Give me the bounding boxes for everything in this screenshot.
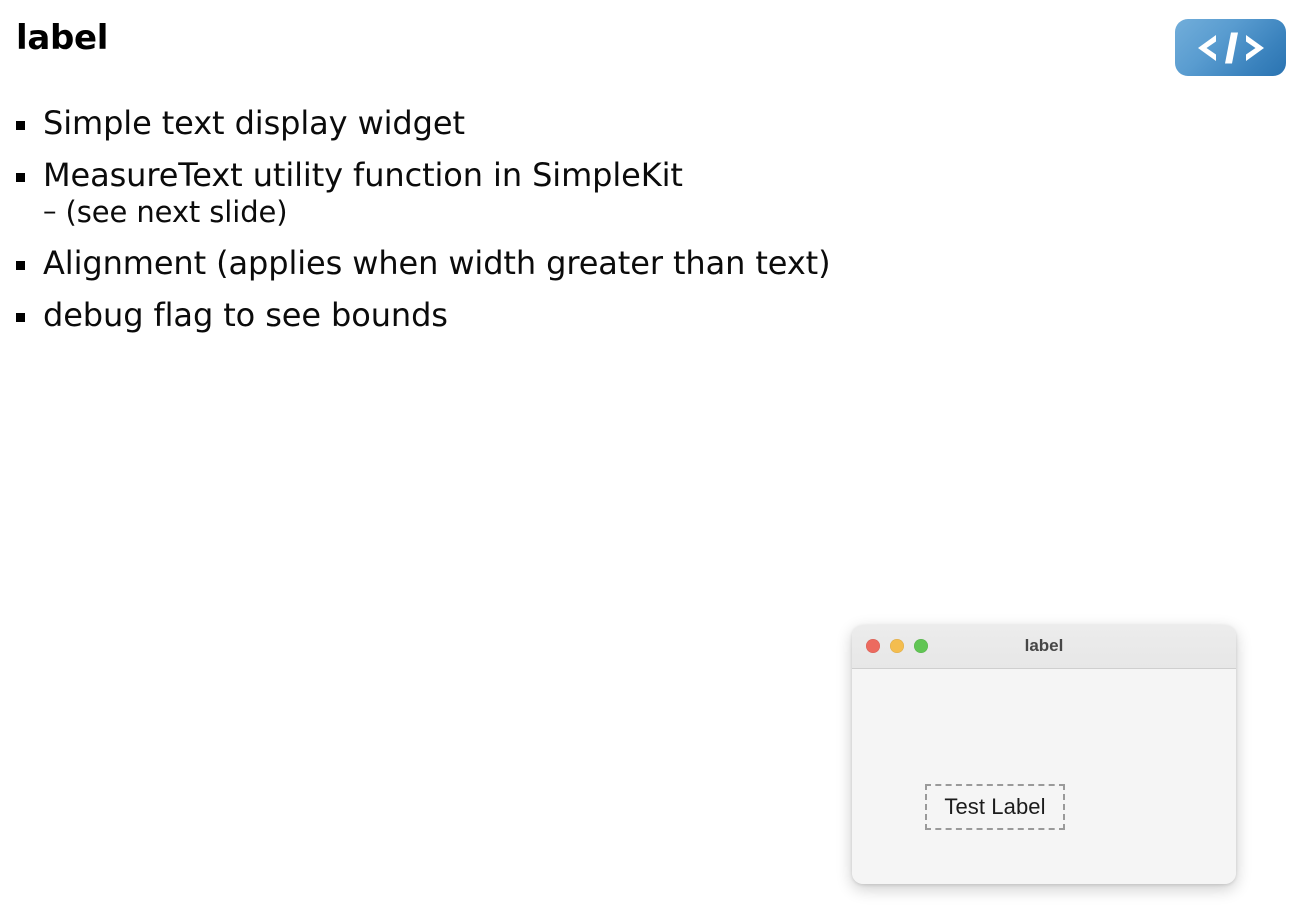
list-item-label: Simple text display widget — [43, 103, 465, 144]
list-item-label: Alignment (applies when width greater th… — [43, 243, 830, 284]
test-label-text: Test Label — [944, 794, 1045, 820]
square-bullet-icon — [16, 295, 43, 322]
list-item: Alignment (applies when width greater th… — [16, 243, 1116, 284]
square-bullet-icon — [16, 243, 43, 270]
sub-list-item-label: (see next slide) — [66, 194, 288, 232]
demo-window: label Test Label — [852, 625, 1236, 884]
bullet-list: Simple text display widget MeasureText u… — [16, 103, 1116, 347]
square-bullet-icon — [16, 103, 43, 130]
sub-list-item: – (see next slide) — [43, 194, 1116, 232]
list-item-group: MeasureText utility function in SimpleKi… — [16, 155, 1116, 232]
page-title: label — [16, 21, 108, 55]
square-bullet-icon — [16, 155, 43, 182]
list-item-label: MeasureText utility function in SimpleKi… — [43, 155, 683, 196]
label-bounds-box: Test Label — [925, 784, 1065, 830]
list-item: MeasureText utility function in SimpleKi… — [16, 155, 1116, 196]
list-item: Simple text display widget — [16, 103, 1116, 144]
list-item-label: debug flag to see bounds — [43, 295, 448, 336]
window-content: Test Label — [852, 669, 1236, 884]
window-titlebar[interactable]: label — [852, 625, 1236, 669]
list-item: debug flag to see bounds — [16, 295, 1116, 336]
window-title: label — [852, 625, 1236, 667]
code-brackets-icon — [1175, 19, 1286, 76]
dash-bullet-icon: – — [43, 194, 57, 229]
